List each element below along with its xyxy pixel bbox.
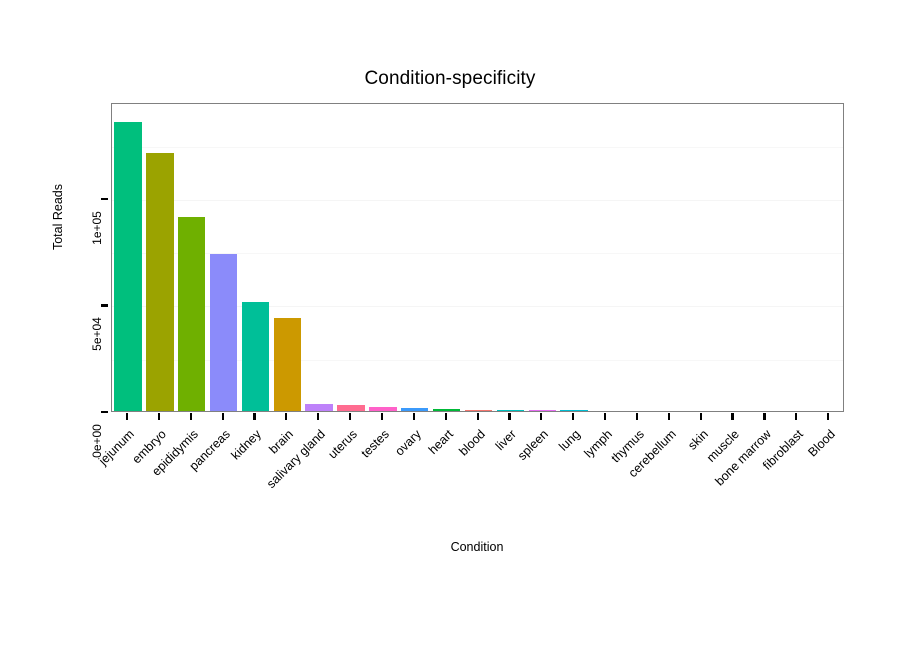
x-tick-mark <box>126 413 128 420</box>
x-tick-mark <box>349 413 351 420</box>
bar <box>178 217 205 411</box>
x-tick-mark <box>604 413 606 420</box>
x-tick-mark <box>477 413 479 420</box>
bar <box>242 302 269 411</box>
y-tick-label: 1e+05 <box>90 198 104 258</box>
x-tick-mark <box>763 413 765 420</box>
x-axis-title: Condition <box>110 540 844 554</box>
x-tick-mark <box>827 413 829 420</box>
x-tick-mark <box>253 413 255 420</box>
bar <box>210 254 237 411</box>
x-tick-mark <box>508 413 510 420</box>
bar <box>401 408 428 411</box>
bar <box>529 410 556 411</box>
bar <box>146 153 173 411</box>
bar <box>337 405 364 411</box>
x-tick-mark <box>572 413 574 420</box>
x-tick-mark <box>317 413 319 420</box>
bar <box>465 410 492 411</box>
x-tick-mark <box>381 413 383 420</box>
bar <box>114 122 141 411</box>
x-tick-mark <box>413 413 415 420</box>
bar <box>274 318 301 411</box>
x-tick-mark <box>445 413 447 420</box>
bar <box>369 407 396 411</box>
bar <box>560 410 587 411</box>
x-tick-mark <box>158 413 160 420</box>
x-tick-mark <box>700 413 702 420</box>
x-tick-mark <box>668 413 670 420</box>
bar-chart: Condition-specificity Total Reads 0e+005… <box>0 0 900 600</box>
x-tick-mark <box>222 413 224 420</box>
bar <box>305 404 332 411</box>
plot-panel <box>111 103 844 412</box>
bar <box>497 410 524 411</box>
y-axis-title: Total Reads <box>51 137 65 297</box>
x-tick-mark <box>636 413 638 420</box>
x-tick-mark <box>731 413 733 420</box>
x-tick-mark <box>285 413 287 420</box>
x-tick-mark <box>190 413 192 420</box>
chart-title: Condition-specificity <box>0 68 900 90</box>
x-tick-mark <box>795 413 797 420</box>
bars-layer <box>112 104 843 411</box>
y-tick-label: 5e+04 <box>90 304 104 364</box>
bar <box>433 409 460 411</box>
x-tick-mark <box>540 413 542 420</box>
